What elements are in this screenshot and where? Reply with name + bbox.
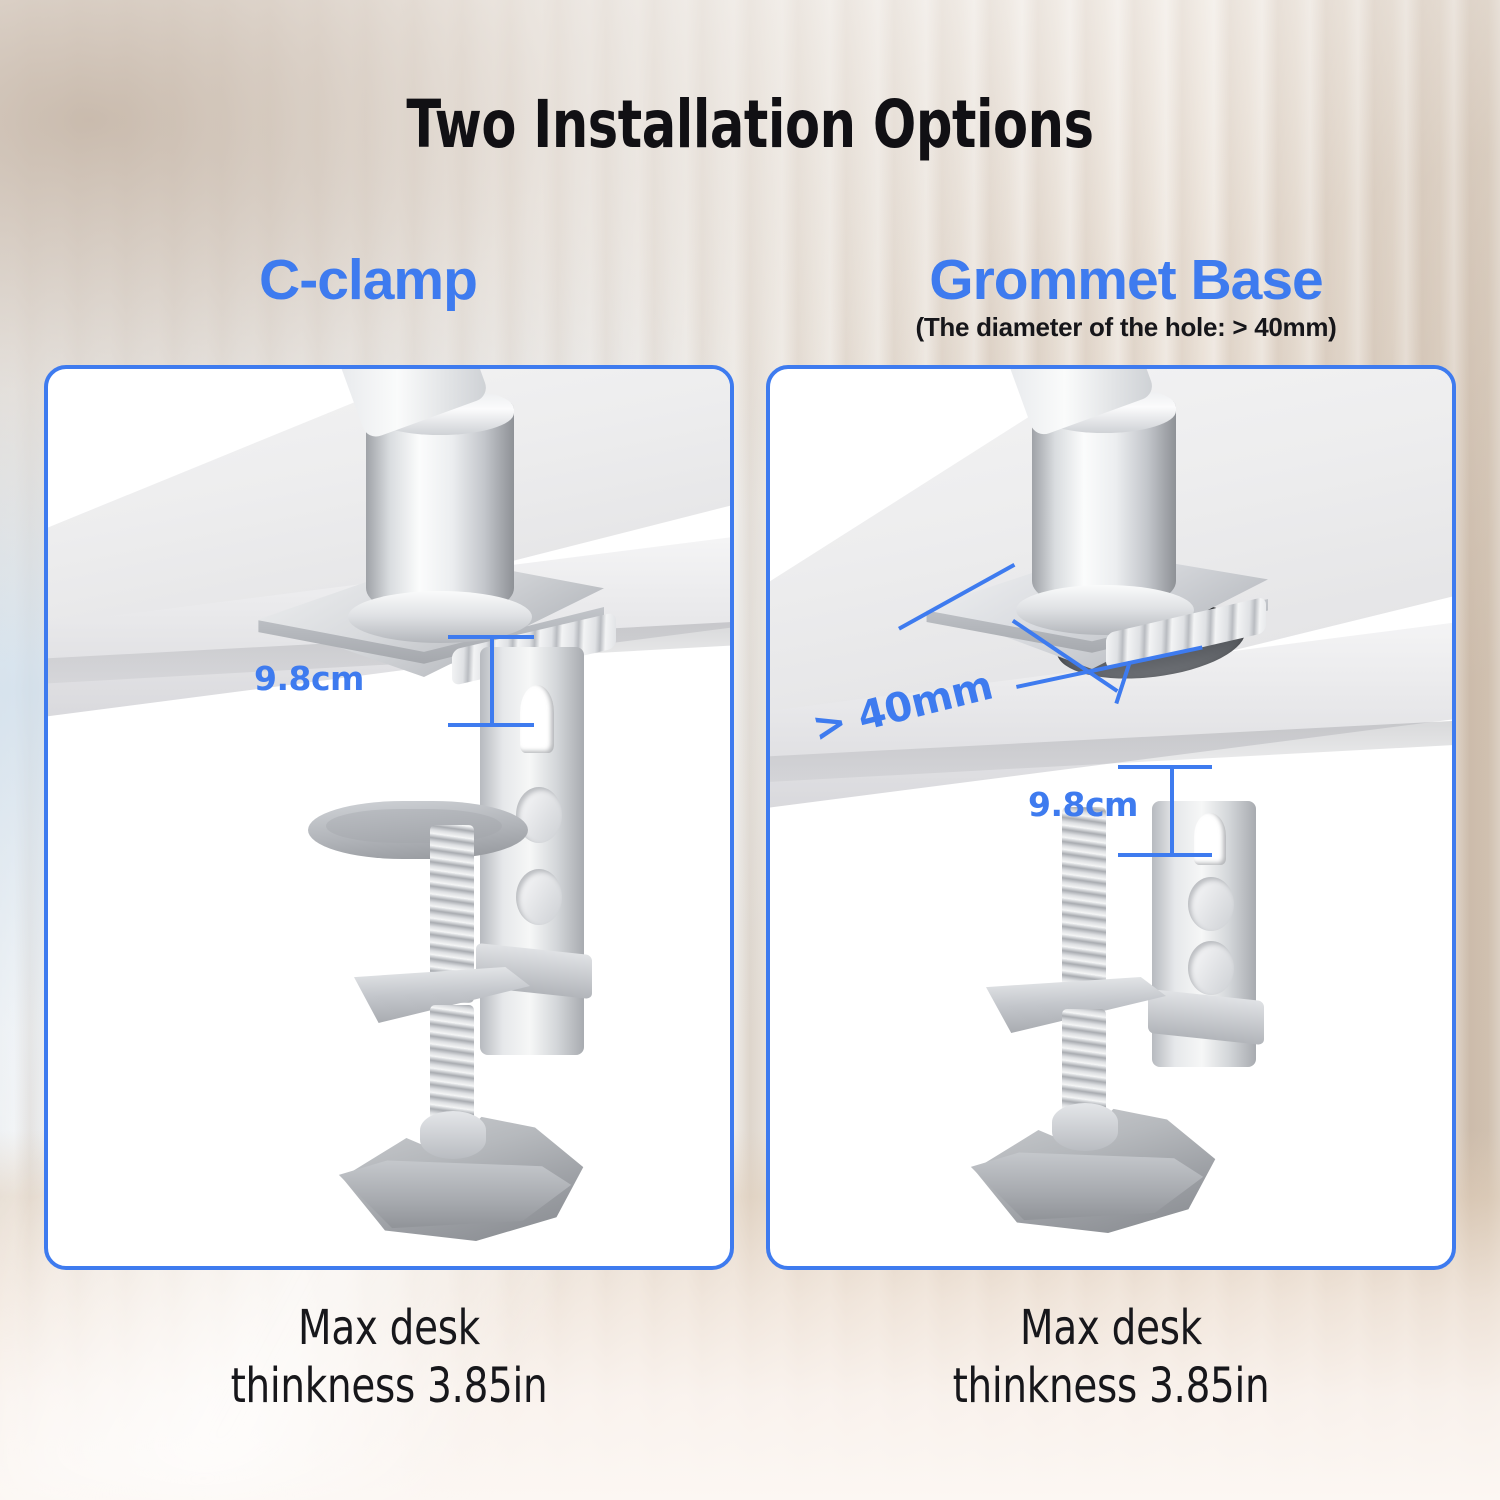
heading-subtext: (The diameter of the hole: > 40mm): [848, 312, 1404, 343]
caption-grommet-base: Max desk thinkness 3.85in: [801, 1300, 1422, 1415]
bracket-keyhole-slot: [1194, 813, 1226, 865]
heading-text: Grommet Base: [848, 250, 1404, 310]
clamp-upper-pad-inset: [326, 809, 502, 843]
knob-collar: [1052, 1103, 1118, 1151]
caption-line-1: Max desk: [801, 1300, 1422, 1358]
column-heading-grommet-base: Grommet Base (The diameter of the hole: …: [848, 250, 1404, 343]
heading-text: C-clamp: [90, 250, 646, 310]
illustration-panel-grommet-base: > 40mm 9.8cm: [766, 365, 1456, 1270]
caption-line-1: Max desk: [79, 1300, 700, 1358]
bracket-cutout-lower: [1188, 941, 1234, 995]
knob-collar: [420, 1111, 486, 1159]
grommet-base-scene: > 40mm 9.8cm: [770, 369, 1452, 1266]
c-clamp-scene: 9.8cm: [48, 369, 730, 1266]
bracket-keyhole-slot: [520, 685, 554, 753]
bracket-cutout-upper: [1188, 877, 1234, 931]
page-title: Two Installation Options: [105, 86, 1395, 163]
dimension-label-9-8cm: 9.8cm: [1028, 785, 1138, 824]
dimension-label-9-8cm: 9.8cm: [254, 659, 364, 698]
column-heading-c-clamp: C-clamp: [90, 250, 646, 310]
caption-line-2: thinkness 3.85in: [79, 1358, 700, 1416]
caption-c-clamp: Max desk thinkness 3.85in: [79, 1300, 700, 1415]
infographic-page: Two Installation Options C-clamp Grommet…: [0, 0, 1500, 1500]
bracket-cutout-lower: [516, 869, 562, 925]
clamp-threaded-bolt-upper: [1062, 807, 1106, 1007]
illustration-panel-c-clamp: 9.8cm: [44, 365, 734, 1270]
caption-line-2: thinkness 3.85in: [801, 1358, 1422, 1416]
